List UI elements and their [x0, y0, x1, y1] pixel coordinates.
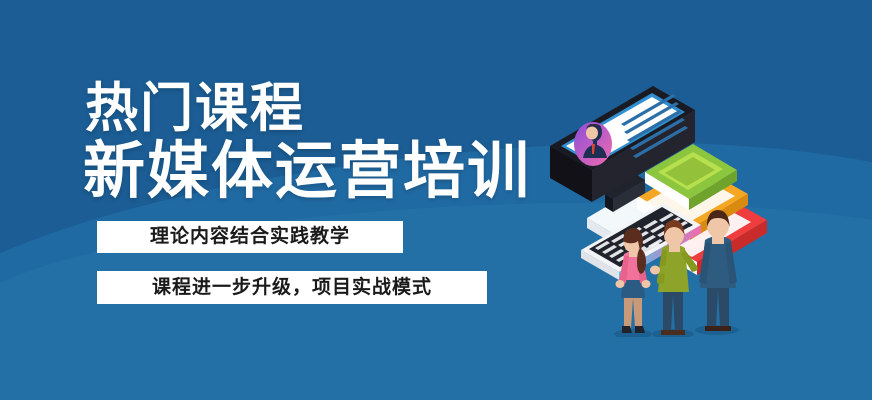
feature-tag-1: 理论内容结合实践教学: [97, 221, 403, 253]
feature-tag-2: 课程进一步升级，项目实战模式: [97, 271, 487, 304]
banner-text-block: 热门课程 新媒体运营培训 理论内容结合实践教学 课程进一步升级，项目实战模式: [85, 82, 555, 304]
headline-line-2: 新媒体运营培训: [83, 141, 555, 203]
course-promo-banner: 热门课程 新媒体运营培训 理论内容结合实践教学 课程进一步升级，项目实战模式: [0, 0, 872, 400]
illustration-online-learning: [545, 72, 775, 337]
headline-line-1: 热门课程: [85, 82, 555, 135]
screen-avatar: [574, 122, 612, 166]
